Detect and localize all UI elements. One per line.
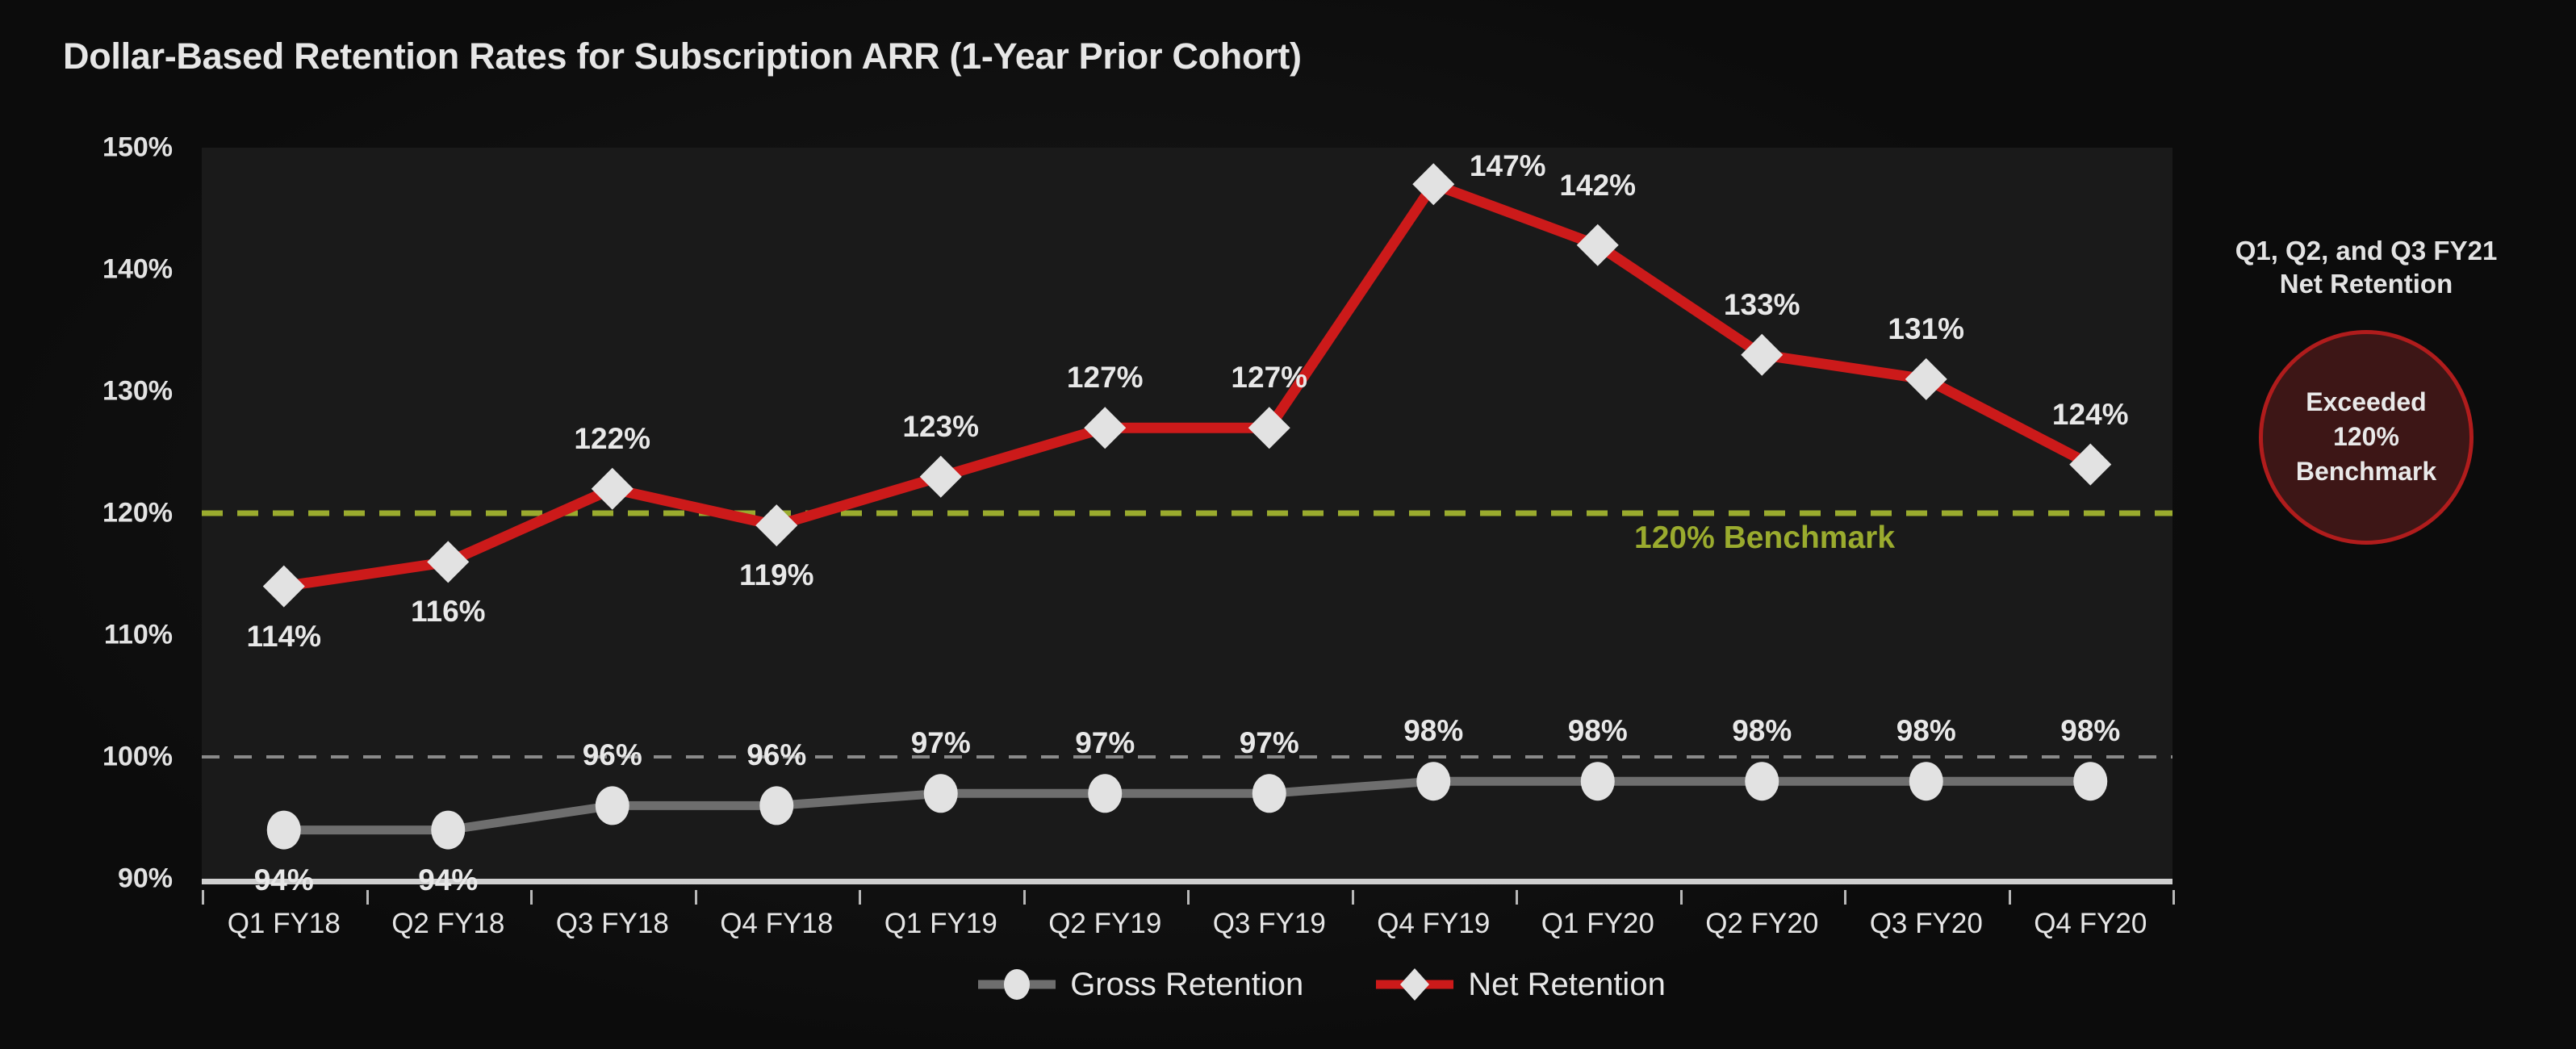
x-axis-tickmark: [859, 890, 861, 905]
callout-circle: Exceeded 120% Benchmark: [2259, 330, 2474, 545]
x-axis-tickmark: [1187, 890, 1190, 905]
callout-heading: Q1, Q2, and Q3 FY21 Net Retention: [2197, 234, 2536, 301]
legend-marker: [1004, 969, 1030, 1000]
y-axis-tick-label: 140%: [102, 254, 173, 286]
marker-net-point: [1084, 407, 1126, 449]
legend-diamond-marker-icon: [1373, 965, 1457, 1004]
y-axis-tick-label: 130%: [102, 376, 173, 407]
marker-gross-point: [1909, 762, 1943, 800]
y-axis: 150%140%130%120%110%100%90%: [0, 148, 187, 879]
x-axis-tickmark: [366, 890, 369, 905]
legend: Gross RetentionNet Retention: [0, 965, 2576, 1004]
x-axis-tick-label: Q3 FY20: [1870, 908, 1983, 940]
marker-gross-point: [596, 786, 629, 825]
x-axis-tick-label: Q1 FY20: [1541, 908, 1654, 940]
legend-item-net-retention[interactable]: Net Retention: [1373, 965, 1666, 1004]
x-axis-tick-label: Q2 FY20: [1705, 908, 1818, 940]
y-axis-tick-label: 100%: [102, 742, 173, 773]
marker-gross-point: [1745, 762, 1779, 800]
x-axis-tick-label: Q4 FY18: [720, 908, 833, 940]
x-axis-tick-label: Q1 FY18: [228, 908, 341, 940]
callout-circle-line2: 120%: [2333, 420, 2399, 454]
marker-gross-point: [431, 811, 465, 850]
callout-annotation: Q1, Q2, and Q3 FY21 Net Retention Exceed…: [2197, 234, 2536, 545]
marker-gross-point: [2073, 762, 2107, 800]
x-axis-tickmark: [202, 890, 204, 905]
marker-gross-point: [1252, 774, 1286, 813]
legend-item-gross-retention[interactable]: Gross Retention: [975, 965, 1303, 1004]
x-axis-tickmark: [2009, 890, 2011, 905]
x-axis-tickmark: [1680, 890, 1683, 905]
marker-net-point: [2069, 444, 2111, 486]
x-axis-tick-label: Q2 FY19: [1048, 908, 1161, 940]
x-axis-tick-label: Q4 FY20: [2034, 908, 2147, 940]
x-axis-tick-label: Q1 FY19: [884, 908, 997, 940]
x-axis-tickmark: [695, 890, 697, 905]
callout-circle-line1: Exceeded: [2306, 385, 2426, 420]
x-axis: Q1 FY18Q2 FY18Q3 FY18Q4 FY18Q1 FY19Q2 FY…: [202, 890, 2172, 935]
callout-circle-line3: Benchmark: [2296, 454, 2436, 489]
legend-marker: [1400, 968, 1429, 1001]
marker-gross-point: [924, 774, 958, 813]
marker-net-point: [755, 504, 797, 546]
callout-heading-line1: Q1, Q2, and Q3 FY21: [2197, 234, 2536, 267]
x-axis-tick-label: Q2 FY18: [391, 908, 504, 940]
legend-circle-marker-icon: [975, 965, 1059, 1004]
x-axis-tickmark: [1023, 890, 1026, 905]
marker-gross-point: [1088, 774, 1122, 813]
marker-gross-point: [1581, 762, 1615, 800]
x-axis-tickmark: [1844, 890, 1846, 905]
x-axis-tick-label: Q3 FY19: [1213, 908, 1326, 940]
y-axis-tick-label: 120%: [102, 498, 173, 529]
marker-net-point: [920, 456, 962, 498]
x-axis-tickmark: [1516, 890, 1518, 905]
legend-label: Gross Retention: [1070, 967, 1303, 1003]
x-axis-tickmark: [2172, 890, 2175, 905]
marker-net-point: [263, 566, 305, 608]
marker-net-point: [592, 468, 634, 510]
marker-gross-point: [759, 786, 793, 825]
y-axis-tick-label: 110%: [104, 620, 173, 651]
marker-gross-point: [267, 811, 301, 850]
plot-svg: [202, 148, 2172, 879]
page-title: Dollar-Based Retention Rates for Subscri…: [63, 36, 1302, 77]
marker-net-point: [1905, 358, 1947, 400]
callout-heading-line2: Net Retention: [2197, 267, 2536, 300]
x-axis-tick-label: Q4 FY19: [1377, 908, 1490, 940]
benchmark-annotation-label: 120% Benchmark: [1634, 520, 1895, 556]
legend-label: Net Retention: [1468, 967, 1666, 1003]
marker-gross-point: [1416, 762, 1450, 800]
x-axis-tick-label: Q3 FY18: [556, 908, 669, 940]
chart-root: Dollar-Based Retention Rates for Subscri…: [0, 0, 2576, 1049]
series-line-gross: [284, 781, 2091, 830]
y-axis-tick-label: 90%: [118, 863, 173, 895]
y-axis-tick-label: 150%: [102, 132, 173, 164]
marker-net-point: [427, 541, 469, 583]
x-axis-tickmark: [1352, 890, 1354, 905]
plot-area: [202, 148, 2172, 879]
x-axis-tickmark: [530, 890, 533, 905]
x-axis-line: [202, 879, 2172, 884]
